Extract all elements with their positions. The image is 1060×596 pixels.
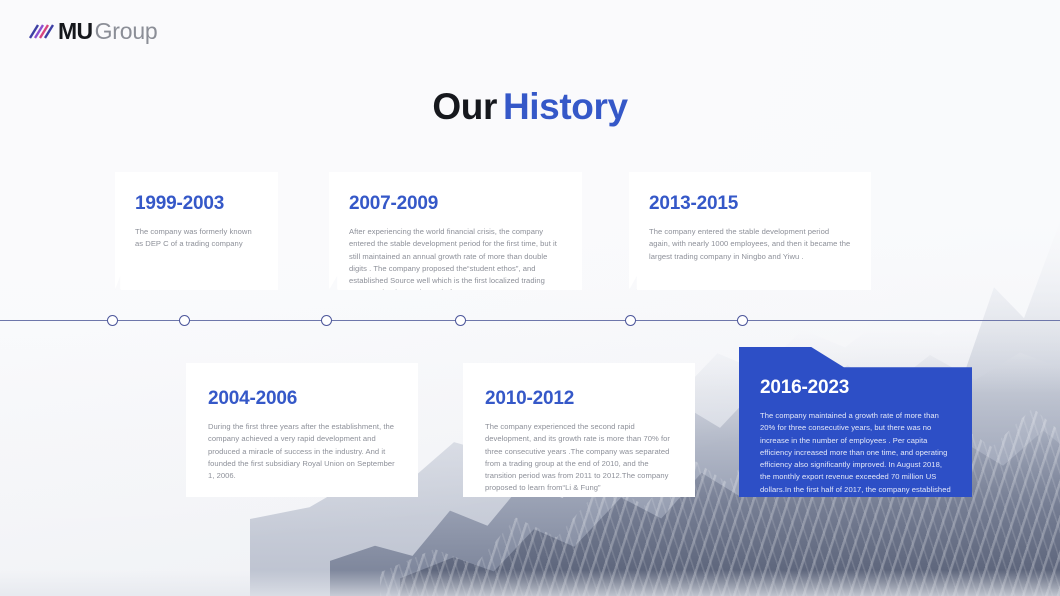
milestone-text-2010-2012: The company experienced the second rapid… — [485, 421, 675, 495]
milestone-card-2010-2012[interactable]: 2010-2012 The company experienced the se… — [463, 363, 695, 497]
milestone-card-2016-2023[interactable]: 2016-2023 The company maintained a growt… — [739, 347, 972, 497]
milestone-card-2004-2006[interactable]: 2004-2006 During the first three years a… — [186, 363, 418, 497]
page-title-history: History — [503, 86, 628, 127]
milestone-text-2013-2015: The company entered the stable developme… — [649, 226, 851, 263]
milestone-year-2016-2023: 2016-2023 — [760, 378, 954, 397]
milestone-year-2004-2006: 2004-2006 — [208, 389, 398, 408]
milestone-card-1999-2003[interactable]: 1999-2003 The company was formerly known… — [115, 172, 278, 290]
milestone-card-2013-2015[interactable]: 2013-2015 The company entered the stable… — [629, 172, 871, 290]
timeline-node-2007-2009[interactable] — [321, 315, 332, 326]
timeline-node-2013-2015[interactable] — [625, 315, 636, 326]
timeline-node-1999-2003[interactable] — [107, 315, 118, 326]
milestone-card-2007-2009[interactable]: 2007-2009 After experiencing the world f… — [329, 172, 582, 290]
milestone-year-2007-2009: 2007-2009 — [349, 194, 562, 213]
timeline-axis — [0, 320, 1060, 321]
milestone-year-2010-2012: 2010-2012 — [485, 389, 675, 408]
logo-text-mu: MU — [58, 20, 93, 43]
milestone-year-1999-2003: 1999-2003 — [135, 194, 258, 213]
timeline-node-2016-2023[interactable] — [737, 315, 748, 326]
page-title: OurHistory — [0, 88, 1060, 127]
milestone-text-2007-2009: After experiencing the world financial c… — [349, 226, 562, 300]
milestone-year-2013-2015: 2013-2015 — [649, 194, 851, 213]
page-title-our: Our — [432, 86, 497, 127]
timeline-node-2010-2012[interactable] — [455, 315, 466, 326]
timeline-node-2004-2006[interactable] — [179, 315, 190, 326]
mu-group-logo-mark-icon — [28, 20, 54, 42]
milestone-text-1999-2003: The company was formerly known as DEP C … — [135, 226, 258, 251]
brand-logo[interactable]: MU Group — [28, 18, 158, 44]
logo-text-group: Group — [95, 20, 158, 43]
background-bottom-fade — [0, 570, 1060, 596]
milestone-text-2004-2006: During the first three years after the e… — [208, 421, 398, 482]
